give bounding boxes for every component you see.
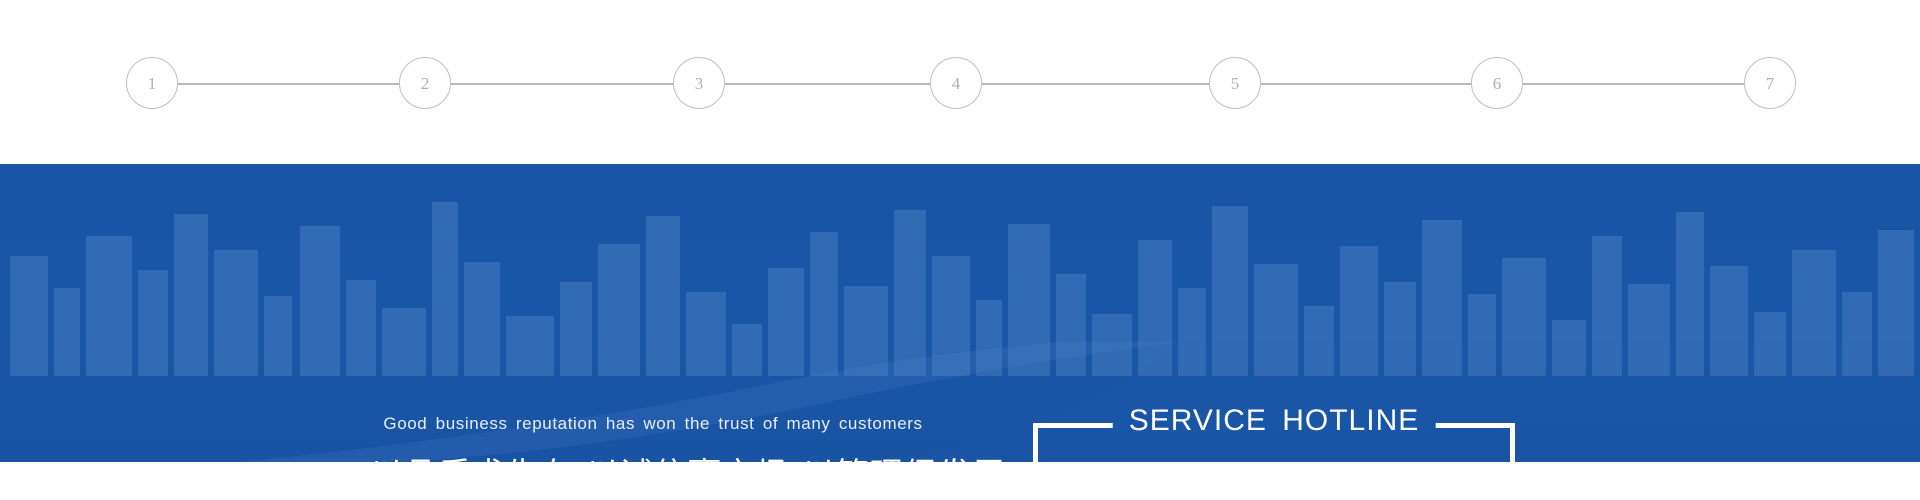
step-label-6: 6 — [1493, 75, 1502, 92]
step-label-3: 3 — [695, 75, 704, 92]
hotline-label: 服务热线： — [1086, 456, 1224, 462]
step-circle-1[interactable]: 1 — [126, 57, 178, 109]
slogan-english: Good business reputation has won the tru… — [370, 414, 936, 434]
step-label-7: 7 — [1766, 75, 1775, 92]
slogan-block: Good business reputation has won the tru… — [370, 414, 936, 462]
step-circle-3[interactable]: 3 — [673, 57, 725, 109]
step-circle-7[interactable]: 7 — [1744, 57, 1796, 109]
hotline-row-primary: 服务热线： 183-2660-0068 — [1086, 456, 1510, 462]
promo-banner: Good business reputation has won the tru… — [0, 164, 1920, 462]
step-circle-2[interactable]: 2 — [399, 57, 451, 109]
step-label-2: 2 — [421, 75, 430, 92]
step-label-5: 5 — [1231, 75, 1240, 92]
slogan-chinese-main: 以品质求生存·以诚信赢市场·以管理促发展 — [370, 448, 936, 462]
step-circle-4[interactable]: 4 — [930, 57, 982, 109]
step-label-1: 1 — [148, 75, 157, 92]
hotline-rows: 服务热线： 183-2660-0068 0551-63749777 — [1038, 456, 1510, 462]
service-hotline-box: SERVICE HOTLINE 服务热线： 183-2660-0068 0551… — [1033, 423, 1515, 462]
page-root: 1 2 3 4 5 6 7 — [0, 0, 1920, 500]
service-hotline-title: SERVICE HOTLINE — [1113, 406, 1436, 436]
step-indicator: 1 2 3 4 5 6 7 — [0, 0, 1920, 164]
step-circle-6[interactable]: 6 — [1471, 57, 1523, 109]
step-circle-5[interactable]: 5 — [1209, 57, 1261, 109]
step-label-4: 4 — [952, 75, 961, 92]
